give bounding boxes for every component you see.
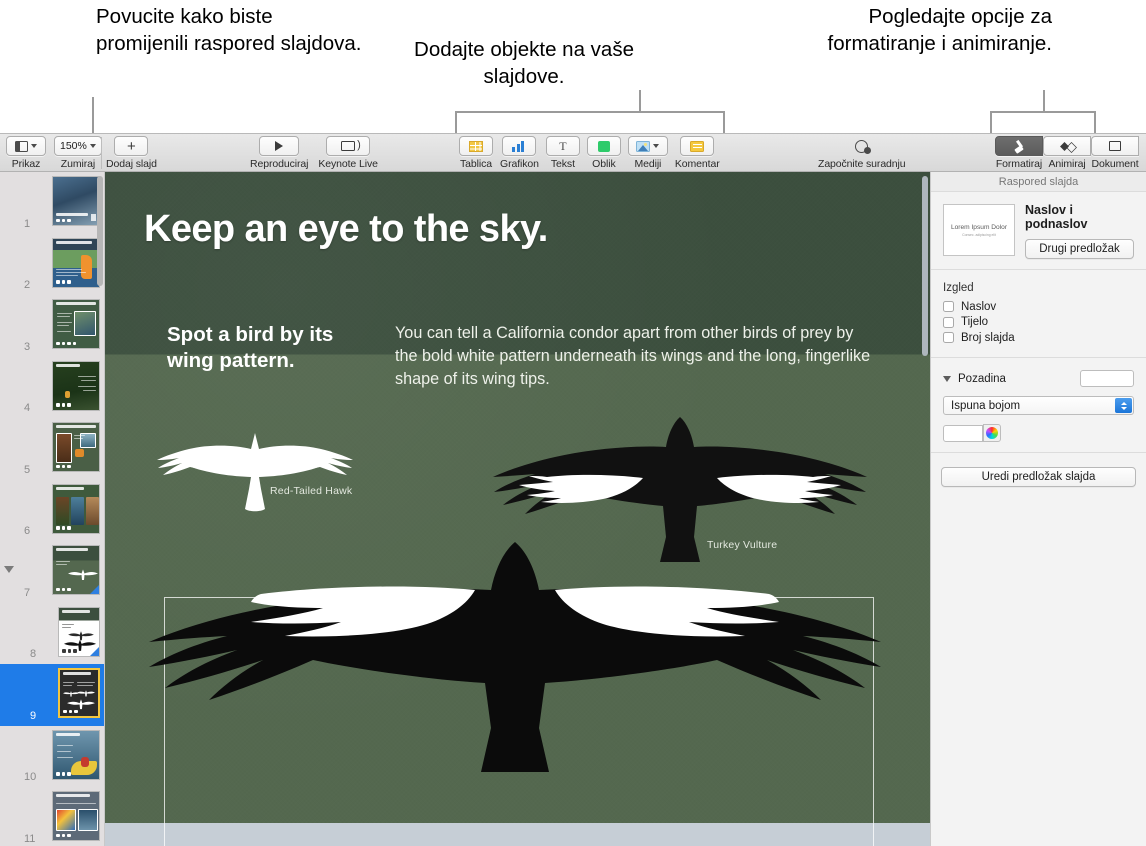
slide-body-text[interactable]: You can tell a California condor apart f… <box>395 322 875 391</box>
text-label: Tekst <box>551 158 575 170</box>
callout-format-text: Pogledajte opcije za formatiranje i anim… <box>800 3 1052 57</box>
slide-thumbnail[interactable] <box>52 238 100 288</box>
slide-thumbnail[interactable] <box>58 607 100 657</box>
chart-label: Grafikon <box>500 158 539 170</box>
background-section: Pozadina Ispuna bojom <box>931 358 1146 453</box>
checkbox-row-slide-number[interactable]: Broj slajda <box>943 332 1134 344</box>
list-item[interactable]: 3 <box>0 295 105 357</box>
slide-thumbnail[interactable] <box>52 484 100 534</box>
comment-icon <box>690 141 704 152</box>
stepper-icon[interactable] <box>1115 398 1132 413</box>
list-item[interactable]: 4 <box>0 357 105 419</box>
shape-icon <box>598 141 610 152</box>
list-item[interactable]: 1 <box>0 172 105 234</box>
shape-label: Oblik <box>592 158 615 170</box>
chevron-down-icon <box>90 144 96 148</box>
layout-name: Naslov i podnaslov <box>1025 204 1134 232</box>
list-item[interactable]: 6 <box>0 480 105 542</box>
slide-thumbnail[interactable] <box>52 791 100 841</box>
fill-type-select[interactable]: Ispuna bojom <box>943 396 1134 415</box>
format-inspector: Raspored slajda Lorem Ipsum Dolor Consec… <box>930 172 1146 846</box>
navigator-scrollbar[interactable] <box>97 176 103 286</box>
callout-layout-leader-line <box>92 97 94 133</box>
slide-thumbnail[interactable] <box>52 299 100 349</box>
list-item[interactable]: 10 <box>0 726 105 788</box>
zoom-value: 150% <box>60 140 87 152</box>
list-item[interactable]: 5 <box>0 418 105 480</box>
disclosure-triangle-icon[interactable] <box>943 376 951 382</box>
tab-document[interactable]: Dokument <box>1091 136 1139 170</box>
slide-subtitle[interactable]: Spot a bird by its wing pattern. <box>167 322 382 374</box>
callout-objects-leader-stem <box>639 90 641 112</box>
slide-title[interactable]: Keep an eye to the sky. <box>144 208 548 251</box>
checkbox-body[interactable] <box>943 317 954 328</box>
keynote-window: Prikaz 150% Zumiraj + Dodaj slajd <box>0 133 1146 846</box>
slide-number: 7 <box>24 587 30 599</box>
layout-thumb-sub: Consec. adipiscing elit <box>962 233 996 237</box>
view-label: Prikaz <box>12 158 41 170</box>
collaborate-icon <box>855 140 868 153</box>
callout-format-leader-left <box>990 111 992 133</box>
play-icon <box>275 141 283 151</box>
toolbar-separator <box>101 137 102 169</box>
slide-number: 1 <box>24 218 30 230</box>
slide-canvas[interactable]: Keep an eye to the sky. Spot a bird by i… <box>105 172 930 823</box>
layout-section: Lorem Ipsum Dolor Consec. adipiscing eli… <box>931 192 1146 270</box>
bird-red-tailed-hawk[interactable] <box>155 427 355 517</box>
add-slide-label: Dodaj slajd <box>106 158 157 170</box>
inspector-tabs: Formatiraj Animiraj Dokument <box>995 136 1139 170</box>
slide-number: 2 <box>24 279 30 291</box>
table-icon <box>469 141 483 152</box>
callout-objects-leader-left <box>455 111 457 133</box>
disclosure-triangle-icon[interactable] <box>4 566 14 573</box>
list-item[interactable]: 7 <box>0 541 105 603</box>
collaborate-button[interactable]: Započnite suradnju <box>818 136 906 170</box>
color-wheel-button[interactable] <box>983 424 1001 442</box>
bird-turkey-vulture[interactable] <box>485 417 875 562</box>
slide-thumbnail[interactable] <box>52 422 100 472</box>
callout-format-leader-bar <box>990 111 1096 113</box>
text-icon: T <box>559 140 566 152</box>
fill-color-well[interactable] <box>943 425 983 442</box>
tab-format[interactable]: Formatiraj <box>995 136 1043 170</box>
checkbox-row-title[interactable]: Naslov <box>943 301 1134 313</box>
slide-navigator[interactable]: 1 2 <box>0 172 105 846</box>
background-preview-field[interactable] <box>1080 370 1134 387</box>
media-icon <box>636 141 650 152</box>
text-button[interactable]: T Tekst <box>546 136 580 170</box>
comment-button[interactable]: Komentar <box>675 136 720 170</box>
table-label: Tablica <box>460 158 492 170</box>
plus-icon: + <box>127 139 136 154</box>
bird-silhouette-icon <box>68 568 98 582</box>
callout-objects-leader-right <box>723 111 725 133</box>
animate-label: Animiraj <box>1048 158 1085 170</box>
slide-number: 11 <box>24 833 35 845</box>
layout-thumb-title: Lorem Ipsum Dolor <box>951 224 1007 231</box>
animate-icon <box>1060 142 1074 151</box>
media-label: Mediji <box>634 158 661 170</box>
callout-objects-text: Dodajte objekte na vaše slajdove. <box>404 36 644 90</box>
label-red-tailed-hawk[interactable]: Red-Tailed Hawk <box>270 485 352 497</box>
slide-number: 4 <box>24 402 30 414</box>
canvas-scrollbar[interactable] <box>922 176 928 356</box>
slide-number: 9 <box>30 710 36 722</box>
slide-number: 6 <box>24 525 30 537</box>
play-label: Reproduciraj <box>250 158 308 170</box>
chart-button[interactable]: Grafikon <box>500 136 539 170</box>
document-label: Dokument <box>1091 158 1138 170</box>
checkbox-title[interactable] <box>943 301 954 312</box>
table-button[interactable]: Tablica <box>459 136 493 170</box>
list-item[interactable]: 2 <box>0 234 105 296</box>
label-turkey-vulture[interactable]: Turkey Vulture <box>707 539 777 551</box>
slide-thumbnail[interactable] <box>52 176 100 226</box>
checkbox-title-label: Naslov <box>961 301 996 313</box>
toolbar: Prikaz 150% Zumiraj + Dodaj slajd <box>0 134 1146 172</box>
brush-icon <box>1013 140 1026 153</box>
chevron-down-icon <box>31 144 37 148</box>
keynote-live-label: Keynote Live <box>318 158 378 170</box>
list-item[interactable]: 11 <box>0 787 105 846</box>
inspector-title: Raspored slajda <box>931 172 1146 192</box>
bird-california-condor[interactable] <box>145 542 885 772</box>
slide-thumbnail[interactable] <box>58 668 100 718</box>
format-label: Formatiraj <box>996 158 1042 170</box>
media-button[interactable]: Mediji <box>628 136 668 170</box>
keynote-live-button[interactable]: Keynote Live <box>318 136 378 170</box>
checkbox-row-body[interactable]: Tijelo <box>943 316 1134 328</box>
slide-thumbnail[interactable] <box>52 545 100 595</box>
callout-format-leader-stem <box>1043 90 1045 112</box>
checkbox-slide-number-label: Broj slajda <box>961 332 1015 344</box>
edit-master-button[interactable]: Uredi predložak slajda <box>941 467 1136 487</box>
slide-thumbnail[interactable] <box>52 730 100 780</box>
color-wheel-icon <box>986 427 998 439</box>
view-icon <box>15 141 28 152</box>
slide-number: 3 <box>24 341 30 353</box>
keynote-live-icon <box>341 141 355 151</box>
change-master-button[interactable]: Drugi predložak <box>1025 239 1134 259</box>
slide-number: 5 <box>24 464 30 476</box>
play-button[interactable]: Reproduciraj <box>250 136 308 170</box>
document-icon <box>1109 141 1121 151</box>
list-item[interactable]: 8 <box>0 603 105 665</box>
callout-objects-leader-bar <box>455 111 725 113</box>
background-header: Pozadina <box>958 373 1006 385</box>
tab-animate[interactable]: Animiraj <box>1043 136 1091 170</box>
bird-silhouette-icon <box>77 689 95 698</box>
add-slide-button[interactable]: + Dodaj slajd <box>106 136 157 170</box>
comment-label: Komentar <box>675 158 720 170</box>
slide-number: 10 <box>24 771 36 783</box>
shape-button[interactable]: Oblik <box>587 136 621 170</box>
checkbox-slide-number[interactable] <box>943 332 954 343</box>
callout-layout-text: Povucite kako biste promijenili raspored… <box>96 3 366 57</box>
zoom-label: Zumiraj <box>61 158 95 170</box>
collaborate-label: Započnite suradnju <box>818 158 906 170</box>
chart-icon <box>512 141 526 152</box>
callout-format-leader-right <box>1094 111 1096 133</box>
slide-canvas-area[interactable]: Keep an eye to the sky. Spot a bird by i… <box>105 172 930 846</box>
chevron-down-icon <box>653 144 659 148</box>
checkbox-body-label: Tijelo <box>961 316 988 328</box>
zoom-button[interactable]: 150% Zumiraj <box>54 136 102 170</box>
slide-thumbnail[interactable] <box>52 361 100 411</box>
list-item[interactable]: 9 <box>0 664 105 726</box>
appearance-header: Izgled <box>943 282 1134 294</box>
layout-thumbnail[interactable]: Lorem Ipsum Dolor Consec. adipiscing eli… <box>943 204 1015 256</box>
fill-type-value: Ispuna bojom <box>951 400 1020 412</box>
view-button[interactable]: Prikaz <box>6 136 46 170</box>
slide-number: 8 <box>30 648 36 660</box>
appearance-section: Izgled Naslov Tijelo Broj slajda <box>931 270 1146 359</box>
